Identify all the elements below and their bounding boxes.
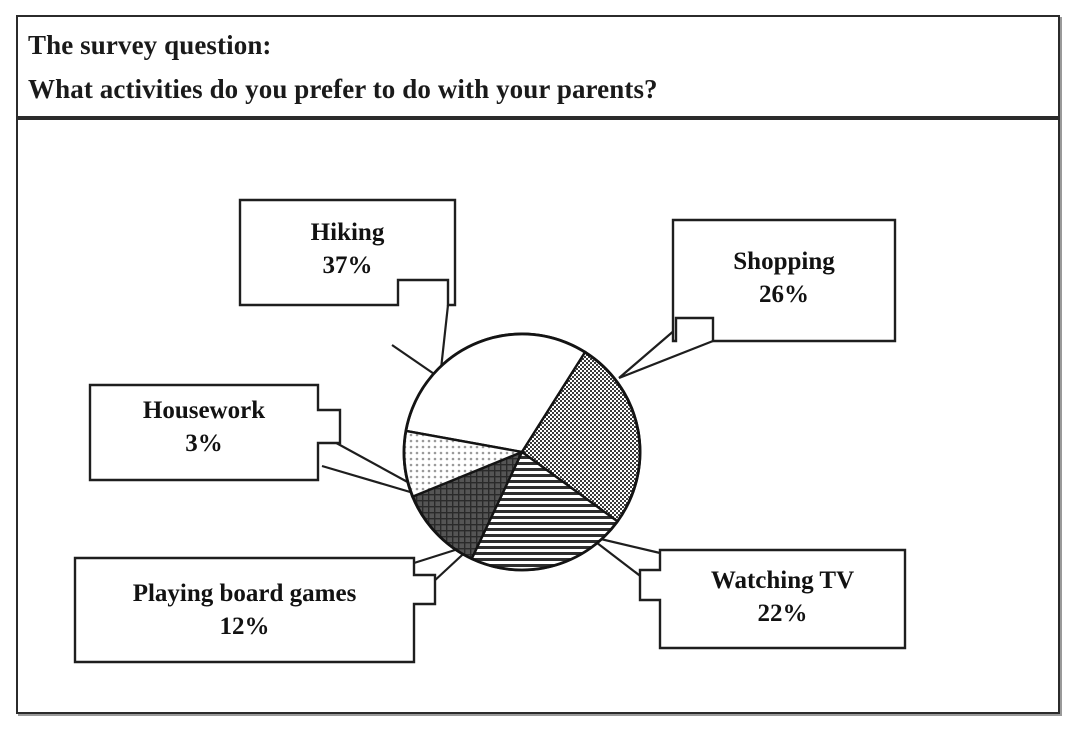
- callout-label-watching-tv: Watching TV 22%: [660, 564, 905, 630]
- survey-question-box: The survey question: What activities do …: [16, 15, 1060, 118]
- callout-label-hiking-value: 37%: [240, 249, 455, 282]
- callout-label-shopping-name: Shopping: [733, 248, 834, 275]
- callout-label-board-games: Playing board games 12%: [75, 577, 414, 643]
- survey-question-line-2: What activities do you prefer to do with…: [28, 67, 1052, 111]
- callout-label-shopping: Shopping 26%: [673, 245, 895, 311]
- callout-label-hiking-name: Hiking: [311, 219, 385, 246]
- page-root: The survey question: What activities do …: [0, 0, 1082, 736]
- callout-label-housework: Housework 3%: [90, 394, 318, 460]
- callout-label-watching-tv-name: Watching TV: [711, 567, 854, 594]
- survey-question-line-1: The survey question:: [28, 23, 1052, 67]
- callout-label-board-games-name: Playing board games: [133, 580, 357, 607]
- callout-label-board-games-value: 12%: [75, 610, 414, 643]
- callout-label-shopping-value: 26%: [673, 278, 895, 311]
- survey-question-inner: The survey question: What activities do …: [28, 23, 1052, 111]
- callout-label-housework-name: Housework: [143, 397, 265, 424]
- callout-label-hiking: Hiking 37%: [240, 216, 455, 282]
- callout-label-watching-tv-value: 22%: [660, 597, 905, 630]
- callout-label-housework-value: 3%: [90, 427, 318, 460]
